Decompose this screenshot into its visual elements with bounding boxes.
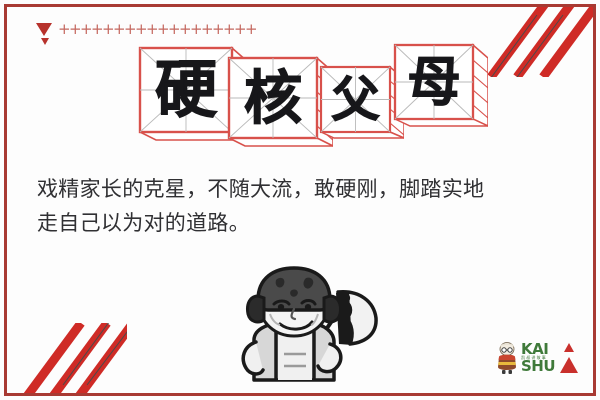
plus-icon: + — [234, 22, 245, 37]
plus-icon: + — [190, 22, 201, 37]
plus-icon: + — [245, 22, 256, 37]
brand-logo-text: KAI 凯叔讲故事 SHU — [521, 342, 555, 373]
poster-canvas: + + + + + + + + + + + + + + + + + + — [0, 0, 600, 400]
plus-icon: + — [58, 22, 69, 37]
page-title: 硬 核 — [136, 42, 476, 142]
plus-icon: + — [212, 22, 223, 37]
plus-icon: + — [201, 22, 212, 37]
title-char-glyph: 硬 — [140, 48, 232, 132]
title-char-glyph: 父 — [321, 67, 390, 132]
triangle-down-small-icon — [41, 38, 49, 45]
plus-icon: + — [124, 22, 135, 37]
brand-logo[interactable]: KAI 凯叔讲故事 SHU — [496, 338, 578, 378]
corner-stripes-bottom-left — [7, 323, 127, 393]
plus-icon: + — [179, 22, 190, 37]
body-line-2: 走自己以为对的道路。 — [37, 206, 567, 240]
triangle-down-large-icon — [36, 23, 52, 36]
plus-icon: + — [91, 22, 102, 37]
kaishu-mascot-icon — [496, 341, 518, 375]
plus-icon: + — [157, 22, 168, 37]
plus-icon: + — [69, 22, 80, 37]
plus-icon: + — [223, 22, 234, 37]
title-char-box-4: 母 — [392, 42, 488, 136]
title-char-glyph: 核 — [229, 58, 317, 138]
body-copy: 戏精家长的克星，不随大流，敢硬刚，脚踏实地 走自己以为对的道路。 — [37, 172, 567, 240]
plus-icon: + — [146, 22, 157, 37]
plus-icon: + — [80, 22, 91, 37]
helmet-warrior-meme-illustration — [218, 262, 388, 384]
corner-stripes-top-right — [473, 7, 593, 77]
title-char-box-2: 核 — [225, 54, 333, 156]
plus-icon: + — [135, 22, 146, 37]
title-char-glyph: 母 — [395, 45, 473, 119]
plus-icon: + — [113, 22, 124, 37]
body-line-1: 戏精家长的克星，不随大流，敢硬刚，脚踏实地 — [37, 172, 567, 206]
plus-icon: + — [168, 22, 179, 37]
brand-triangles-icon — [559, 341, 579, 375]
plus-icon: + — [102, 22, 113, 37]
decor-tick-row: + + + + + + + + + + + + + + + + + + — [36, 22, 256, 37]
brand-logo-line-2: SHU — [521, 359, 555, 373]
